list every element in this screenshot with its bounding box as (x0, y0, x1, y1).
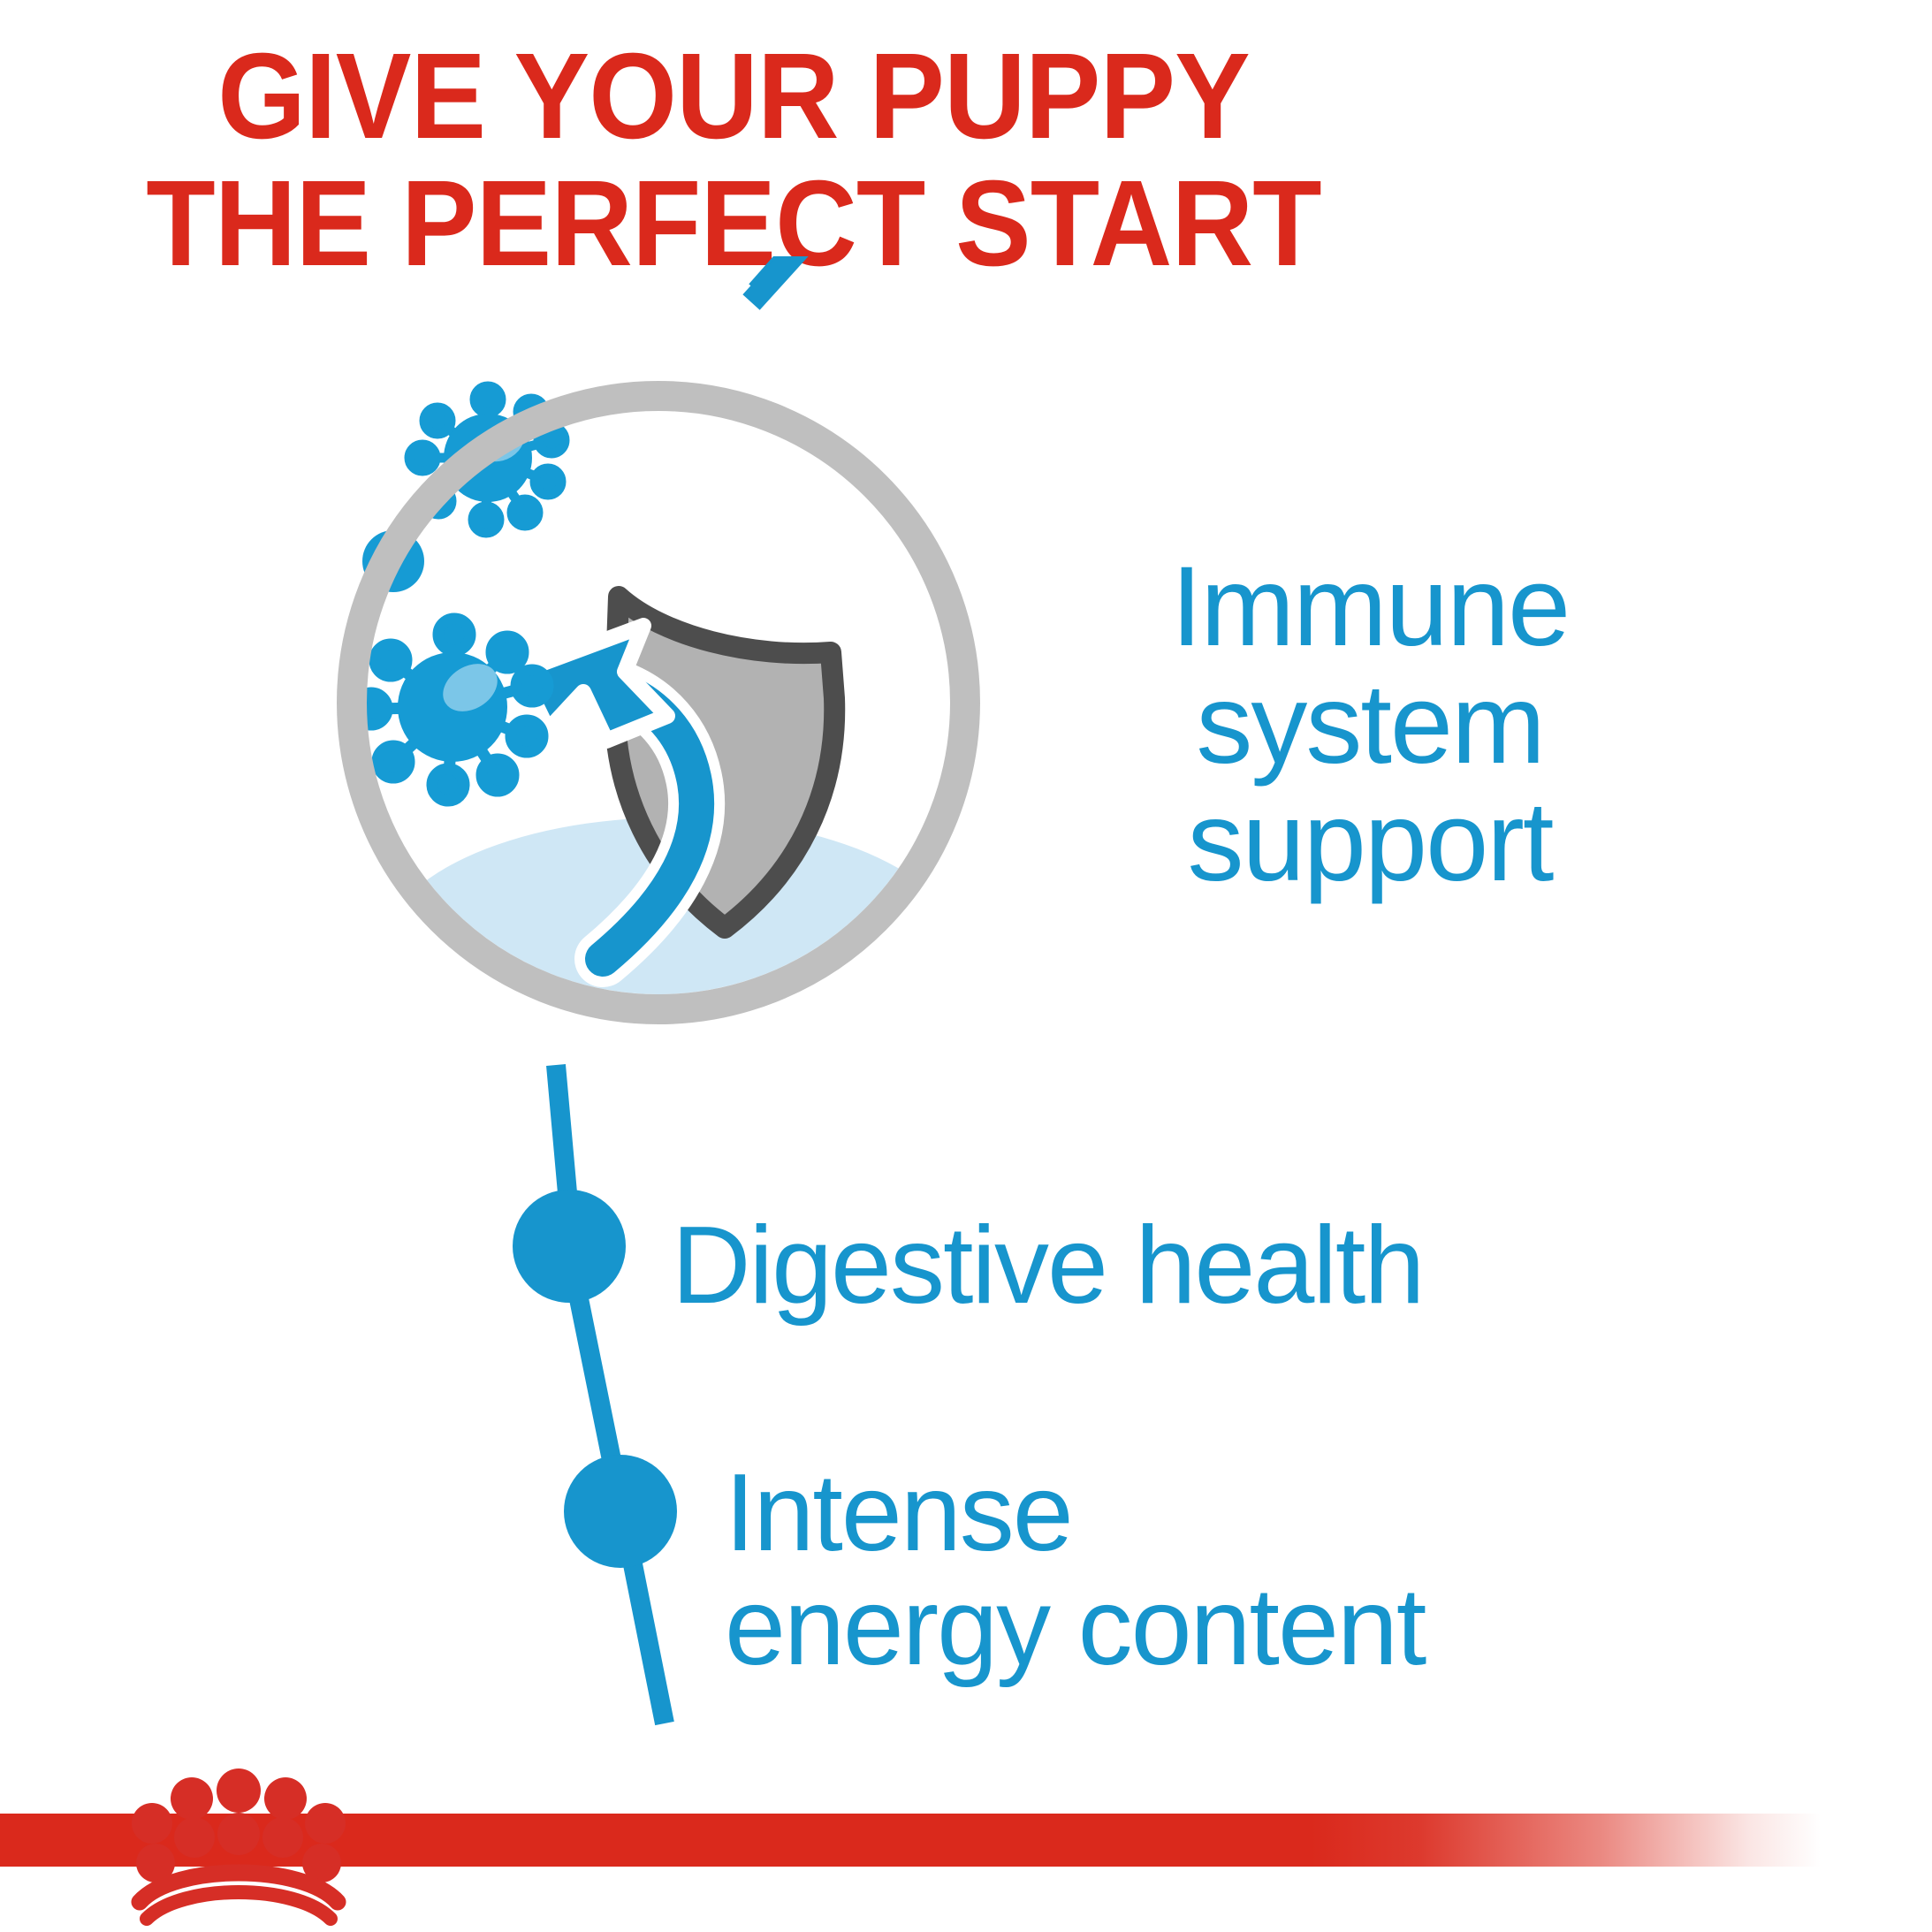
virus-icon (355, 619, 548, 801)
benefit-2-line-1: Digestive health (672, 1209, 1732, 1323)
immune-shield-illustration (292, 256, 1025, 1052)
poster-root: GIVE YOUR PUPPY THE PERFECT START (0, 0, 1932, 1932)
headline-line-1: GIVE YOUR PUPPY (51, 34, 1416, 161)
benefit-1-line-2: system (1016, 666, 1723, 783)
benefit-connector-line (460, 1016, 901, 1812)
royal-canin-crown-logo (124, 1768, 354, 1932)
connector-dot (513, 1190, 626, 1303)
footer (0, 1768, 1932, 1932)
benefit-1-line-1: Immune (1016, 548, 1723, 666)
benefit-label-immune-system-support: Immune system support (1016, 548, 1723, 901)
connector-dot (564, 1455, 677, 1568)
benefit-label-intense-energy-content: Intense energy content (725, 1457, 1838, 1685)
benefit-1-line-3: support (1016, 783, 1723, 901)
benefit-3-line-1: Intense (725, 1457, 1838, 1571)
benefit-label-digestive-health: Digestive health (672, 1209, 1732, 1323)
pointer-tick-icon (751, 256, 804, 302)
page-title: GIVE YOUR PUPPY THE PERFECT START (51, 34, 1416, 287)
benefit-3-line-2: energy content (725, 1571, 1838, 1685)
